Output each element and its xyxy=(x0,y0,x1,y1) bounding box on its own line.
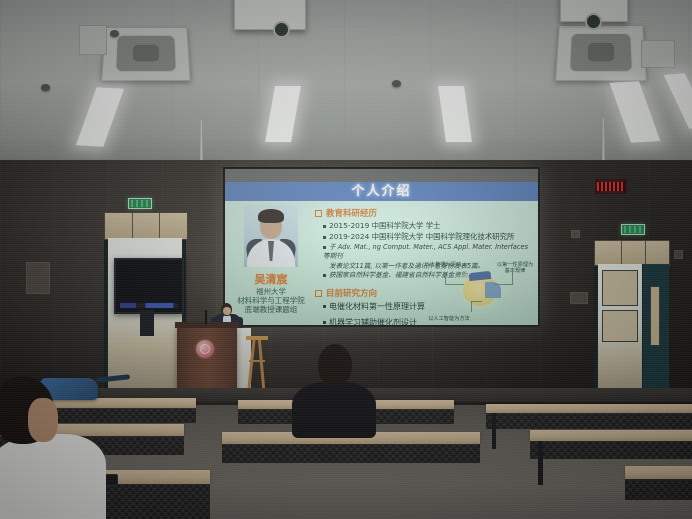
presenter-profile-block: 吴清宸 福州大学 材料科学与工程学院 底端教授课题组 xyxy=(233,205,309,314)
slide-bullet-edu-2: 2019-2024 中国科学院大学 中国科学院理化技术研究所 xyxy=(323,232,534,242)
slide-top-band xyxy=(225,169,538,182)
right-door-window-lower xyxy=(602,310,638,342)
dot-bullet-icon xyxy=(323,274,326,277)
right-transom-window xyxy=(594,240,670,266)
ceiling-projector-right xyxy=(560,0,628,22)
dot-bullet-icon xyxy=(323,321,326,324)
diagram-label-1: 以人数据为驱动 xyxy=(423,262,463,268)
ceiling-vent-right xyxy=(641,40,675,68)
attendee-left-face xyxy=(28,398,58,442)
presenter-affiliation-2: 材料科学与工程学院 xyxy=(233,296,309,305)
dot-bullet-icon xyxy=(323,246,326,249)
dot-bullet-icon xyxy=(323,305,326,308)
ac-unit-right-core xyxy=(588,43,615,61)
smoke-detector-left xyxy=(41,84,50,91)
attendee-center-torso xyxy=(292,382,376,438)
slide-body: 吴清宸 福州大学 材料科学与工程学院 底端教授课题组 教育科研经历 2015-2… xyxy=(225,201,538,325)
right-transom-mullion-2 xyxy=(645,241,646,265)
smoke-detector-center xyxy=(392,80,401,87)
ceiling-vent-left xyxy=(79,25,107,55)
presenter-portrait-photo xyxy=(244,205,298,267)
podium xyxy=(177,326,237,396)
wall-monitor xyxy=(114,258,184,314)
wall-plate-far-right xyxy=(674,250,683,259)
podium-top-surface xyxy=(175,322,239,328)
desk-front-panel xyxy=(486,413,692,429)
speaker-face xyxy=(223,307,231,315)
diagram-label-3: 以人工智能为方法 xyxy=(427,316,471,322)
research-concept-diagram: 以人数据为驱动 以第一性原理为基本规律 以人工智能为方法 xyxy=(423,260,535,322)
exit-sign-left xyxy=(128,198,152,209)
right-transom-mullion-1 xyxy=(621,241,622,265)
right-door-window-upper xyxy=(602,270,638,306)
left-transom-mullion-2 xyxy=(159,213,160,239)
presentation-slide: 个人介绍 吴清宸 福州大学 材料科学与工程学院 底端教授课题组 xyxy=(225,169,538,325)
wall-plate-upper-right xyxy=(571,230,580,238)
portrait-hair xyxy=(258,209,284,223)
university-emblem xyxy=(196,340,214,358)
seated-attendee-center xyxy=(292,344,376,438)
dot-bullet-icon xyxy=(323,236,326,239)
monitor-taskbar xyxy=(120,303,178,308)
ac-unit-left-grille xyxy=(115,35,177,72)
desk-front-panel xyxy=(625,479,692,500)
slide-section-heading-education-text: 教育科研经历 xyxy=(326,209,377,219)
right-door-leaf-vision-panel xyxy=(650,286,660,346)
slide-bullet-edu-1: 2015-2019 中国科学院大学 学士 xyxy=(323,221,534,231)
slide-bullet-res-2-text: 机器学习辅助催化剂设计 xyxy=(329,318,417,325)
presenter-affiliation-1: 福州大学 xyxy=(233,287,309,296)
ac-unit-left-core xyxy=(133,45,159,62)
slide-bullet-edu-1-text: 2015-2019 中国科学院大学 学士 xyxy=(329,221,441,230)
left-transom-mullion-1 xyxy=(132,213,133,239)
left-transom-window xyxy=(104,212,188,240)
slide-bullet-edu-3-text: 于 Adv. Mat., ng Comput. Mater., ACS Appl… xyxy=(323,243,528,259)
desk-front-panel xyxy=(530,441,692,459)
slide-bullet-edu-2-text: 2019-2024 中国科学院大学 中国科学院理化技术研究所 xyxy=(329,232,514,241)
exit-sign-right xyxy=(621,224,645,235)
diagram-leader-line-1 xyxy=(445,272,464,285)
smoke-detector-right xyxy=(110,30,119,37)
monitor-stand xyxy=(140,310,154,336)
microphone-stand xyxy=(205,310,207,324)
lecture-hall-photo: 个人介绍 吴清宸 福州大学 材料科学与工程学院 底端教授课题组 xyxy=(0,0,692,519)
projector-lens xyxy=(273,21,290,38)
ac-unit-right-grille xyxy=(569,33,633,72)
seated-attendee-foreground-left xyxy=(0,376,112,519)
dot-bullet-icon xyxy=(323,225,326,228)
easel-top-tray xyxy=(246,336,268,340)
attendee-left-torso xyxy=(0,434,106,519)
slide-bullet-edu-3: 于 Adv. Mat., ng Comput. Mater., ACS Appl… xyxy=(323,243,534,260)
desk-top xyxy=(625,466,692,479)
desk-leg xyxy=(492,413,496,449)
diagram-leader-line-3 xyxy=(471,301,482,312)
projector-lens-right xyxy=(585,13,602,30)
presenter-affiliation-3: 底端教授课题组 xyxy=(233,305,309,314)
desk-top xyxy=(486,404,692,413)
wall-plate-right xyxy=(570,292,588,304)
desk-top xyxy=(530,430,692,441)
slide-section-heading-research-text: 目前研究方向 xyxy=(326,289,377,299)
slide-section-heading-education: 教育科研经历 xyxy=(315,207,534,219)
ceiling-projector xyxy=(234,0,306,30)
square-bullet-icon xyxy=(315,210,322,217)
presenter-name: 吴清宸 xyxy=(233,271,309,287)
square-bullet-icon xyxy=(315,290,322,297)
attendee-center-head xyxy=(318,344,352,386)
ceiling xyxy=(0,0,692,172)
slide-bullet-res-1-text: 电催化材料第一性原理计算 xyxy=(329,302,425,311)
ac-unit-right xyxy=(555,25,647,81)
slide-title: 个人介绍 xyxy=(225,182,538,201)
desk-front-panel xyxy=(222,444,480,463)
desk-leg xyxy=(538,441,543,485)
projection-screen: 个人介绍 吴清宸 福州大学 材料科学与工程学院 底端教授课题组 xyxy=(223,167,540,327)
diagram-label-2: 以第一性原理为基本规律 xyxy=(495,262,535,275)
easel-crossbar xyxy=(249,360,265,362)
wall-plate-left xyxy=(26,262,50,294)
led-scrolling-sign xyxy=(595,179,627,194)
